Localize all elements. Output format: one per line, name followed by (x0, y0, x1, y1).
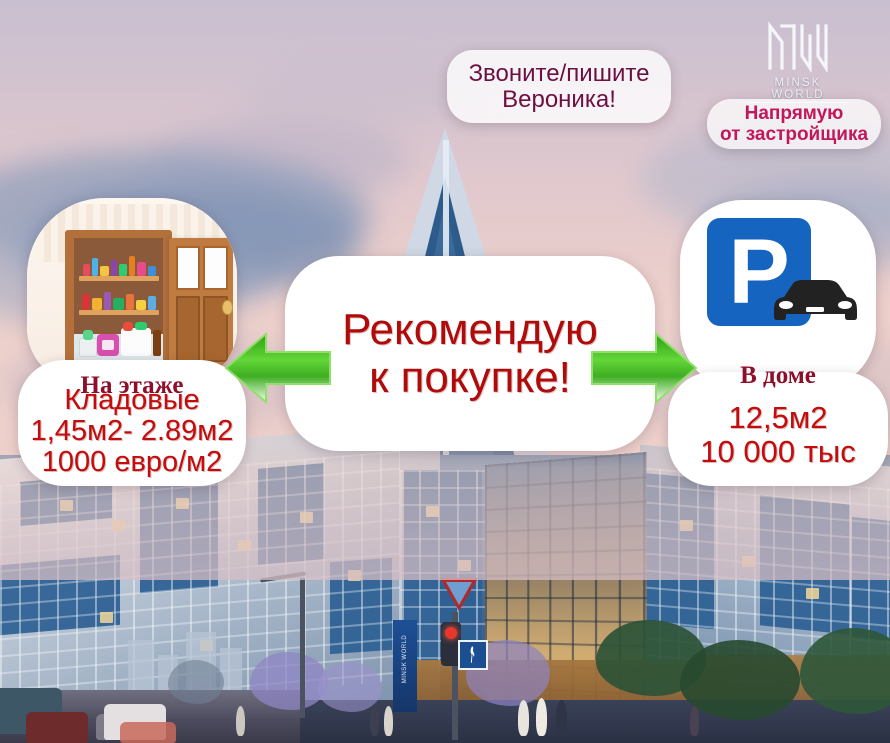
door-glass-panel (203, 246, 228, 290)
person (556, 700, 567, 736)
brand-logo: MINSK WORLD (748, 18, 848, 94)
stored-item (136, 300, 146, 310)
parking-line-1: 12,5м2 (729, 401, 828, 435)
stored-item (100, 266, 109, 276)
person (690, 706, 699, 736)
storage-box (121, 328, 151, 356)
parking-heading: В доме (668, 362, 888, 389)
stored-item (113, 298, 124, 310)
parking-text-card[interactable]: 12,5м2 10 000 тыс (668, 372, 888, 486)
yield-sign-inner (446, 582, 472, 605)
stored-item (119, 264, 127, 276)
stored-item (83, 330, 93, 340)
door-glass-panel (176, 246, 200, 290)
tree (168, 660, 224, 704)
direct-from-developer-badge[interactable]: Напрямую от застройщика (707, 99, 881, 149)
person (236, 706, 245, 736)
yield-sign (440, 578, 478, 611)
poster-canvas: MINSK WORLD MINSK WORLD (0, 0, 890, 743)
parking-line-2: 10 000 тыс (700, 435, 855, 469)
lit-window (806, 588, 819, 599)
street-banner: MINSK WORLD (393, 620, 417, 712)
stored-item (148, 296, 156, 310)
traffic-light-red (445, 627, 457, 639)
street-lamp-pole (300, 578, 305, 718)
stored-item (111, 260, 117, 276)
pedestrian-crossing-sign (458, 640, 488, 670)
stored-item (137, 262, 146, 276)
car-icon (764, 272, 860, 328)
badge-line-1: Напрямую (745, 103, 844, 124)
recommendation-line-1: Рекомендую (342, 306, 598, 354)
stored-item (135, 322, 147, 330)
badge-line-2: от застройщика (720, 124, 868, 145)
call-write-line-2: Вероника! (502, 87, 616, 113)
storage-room-illustration-card[interactable] (27, 198, 237, 384)
storage-room-icon (27, 198, 237, 384)
stored-item (129, 256, 135, 276)
door-wood-panel (176, 296, 200, 362)
stored-item (92, 258, 98, 276)
mw-monogram-icon (748, 18, 848, 72)
stored-item (126, 294, 134, 310)
car (26, 712, 88, 743)
stored-item (92, 298, 102, 310)
car (120, 722, 176, 743)
storage-bin-label (102, 340, 114, 350)
person (384, 706, 393, 736)
person (518, 700, 529, 736)
tree-blossom (250, 652, 328, 710)
storage-line-2: 1,45м2- 2.89м2 (31, 416, 234, 447)
stored-item (83, 264, 90, 276)
call-write-line-1: Звоните/пишите (469, 61, 650, 87)
stored-item (148, 266, 156, 276)
stored-item (123, 322, 133, 331)
storage-line-3: 1000 евро/м2 (42, 447, 223, 478)
recommendation-line-2: к покупке! (369, 354, 571, 402)
lit-window (100, 612, 113, 623)
person (536, 698, 547, 736)
shelf (79, 310, 159, 315)
stored-box (79, 338, 97, 357)
shelf (79, 276, 159, 281)
call-write-bubble[interactable]: Звоните/пишите Вероника! (447, 50, 671, 123)
stored-item (104, 292, 111, 310)
storage-heading: На этаже (18, 372, 246, 399)
street-banner-text: MINSK WORLD (402, 617, 408, 701)
person (370, 704, 379, 736)
door-knob (222, 300, 233, 315)
tree (680, 640, 800, 720)
stored-item (82, 294, 90, 310)
stored-bottle (153, 330, 161, 356)
